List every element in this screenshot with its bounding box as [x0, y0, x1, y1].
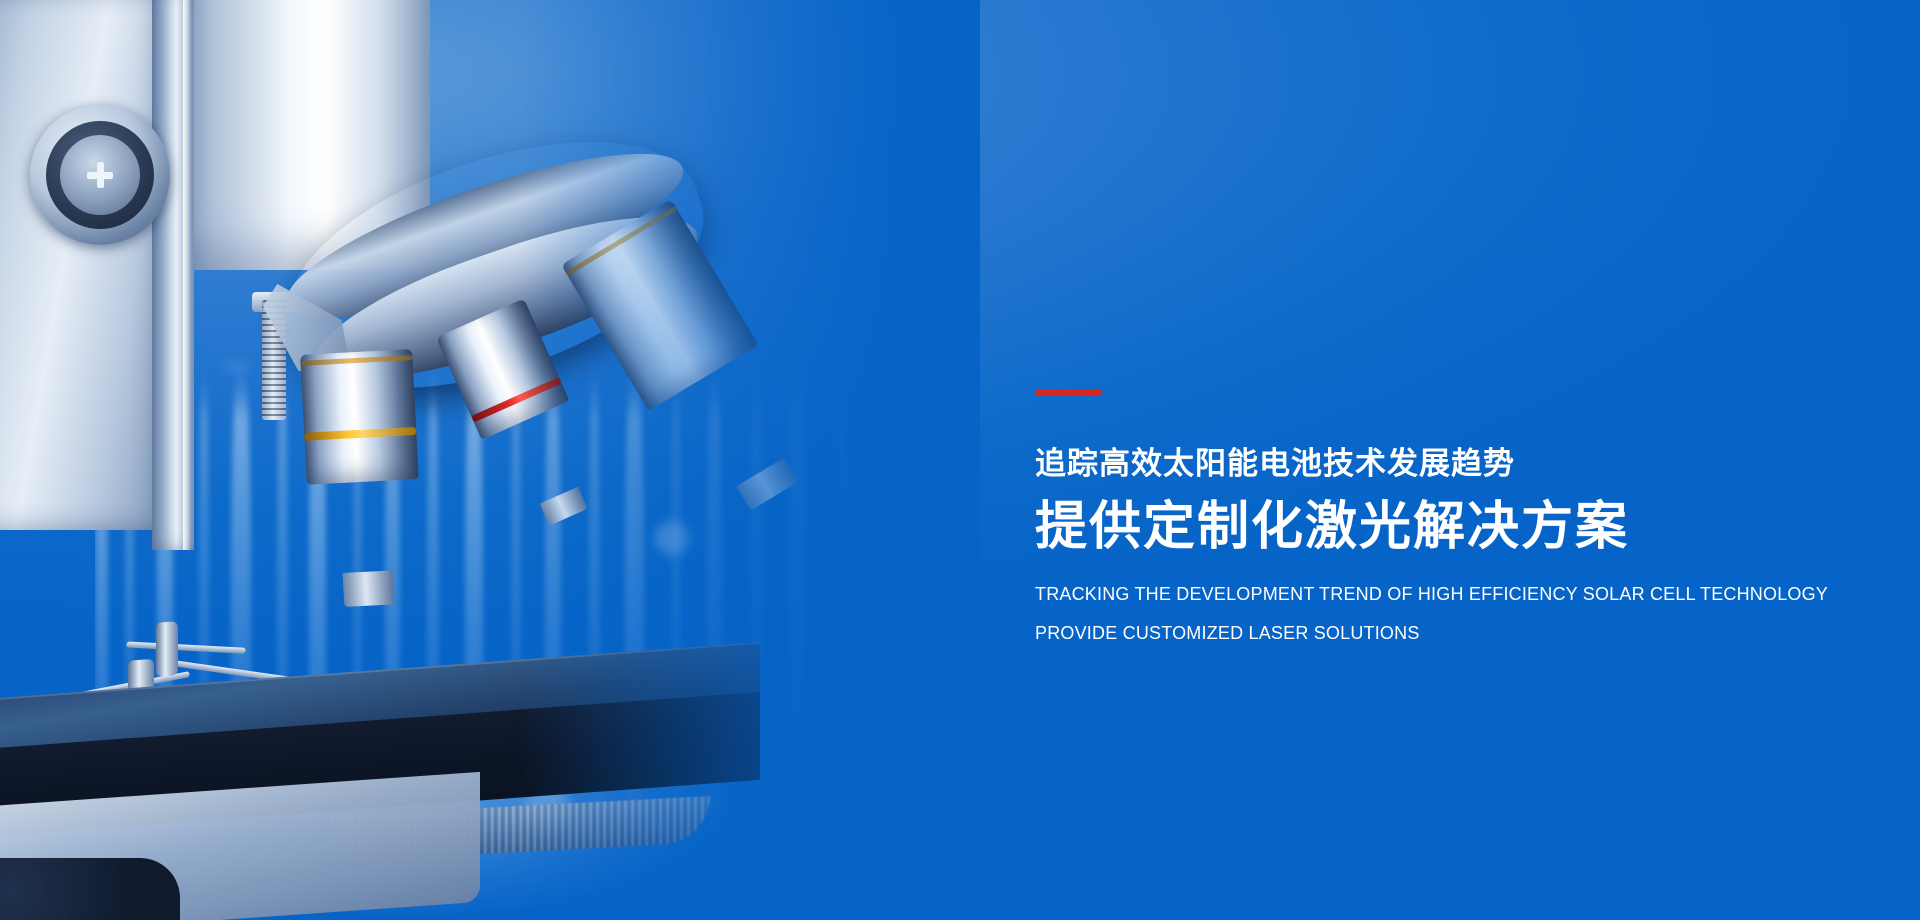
- microscope-foot: [0, 858, 180, 920]
- photo-fade-overlay: [520, 0, 980, 920]
- objective-tip: [343, 570, 394, 607]
- arm-ridge: [152, 0, 194, 550]
- banner-subtitle-en-line2: PROVIDE CUSTOMIZED LASER SOLUTIONS: [1035, 624, 1855, 642]
- objective-lens-left: [300, 349, 419, 485]
- objective-knurl: [311, 481, 418, 572]
- microscope-arm: [0, 0, 170, 530]
- focus-knob-center: [60, 135, 140, 215]
- banner-copy: 追踪高效太阳能电池技术发展趋势 提供定制化激光解决方案 TRACKING THE…: [1035, 390, 1855, 642]
- accent-rule: [1035, 390, 1101, 395]
- banner-subtitle-cn: 追踪高效太阳能电池技术发展趋势: [1035, 447, 1855, 481]
- knob-screw-v: [97, 162, 104, 188]
- focus-knob: [30, 105, 170, 245]
- hero-banner: 追踪高效太阳能电池技术发展趋势 提供定制化激光解决方案 TRACKING THE…: [0, 0, 1920, 920]
- banner-headline-cn: 提供定制化激光解决方案: [1035, 499, 1855, 555]
- banner-subtitle-en-line1: TRACKING THE DEVELOPMENT TREND OF HIGH E…: [1035, 585, 1855, 603]
- objective-tube: [300, 349, 419, 485]
